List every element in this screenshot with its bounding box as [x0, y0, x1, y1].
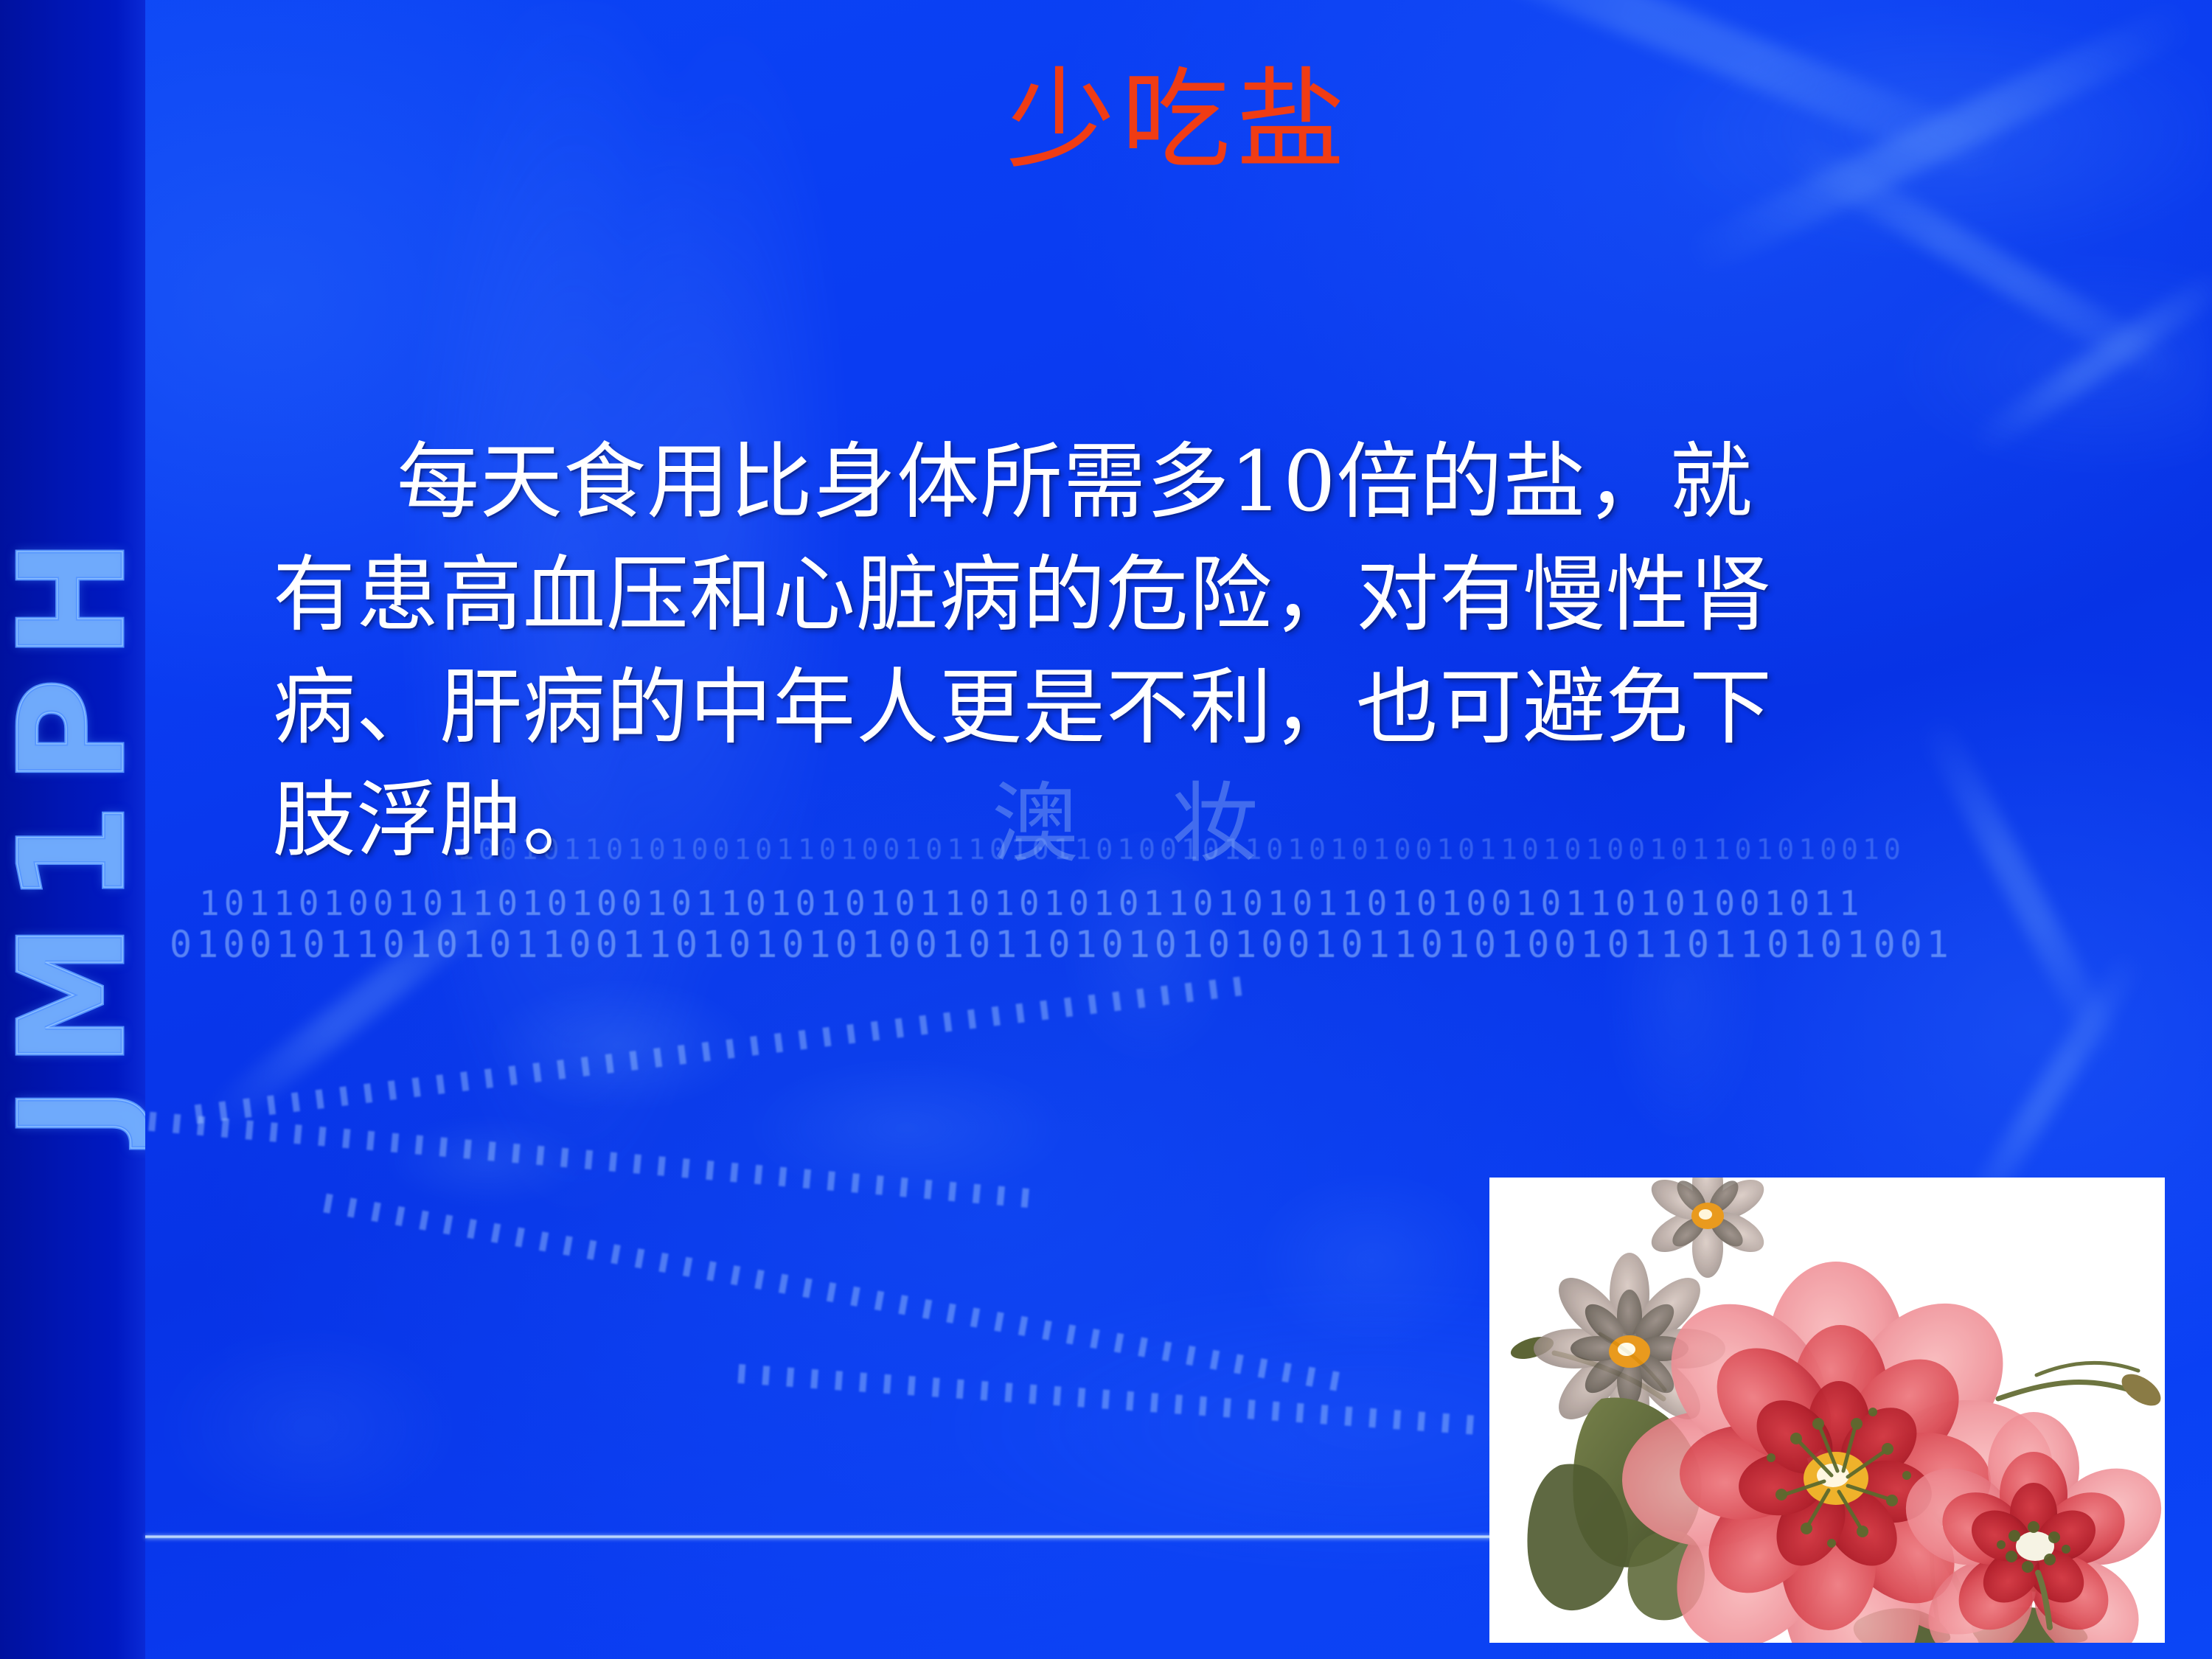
slide-canvas: 1011010010110101001011010101011010101011… — [0, 0, 2212, 1659]
sidebar-vertical-label-inner: JM1PH — [0, 519, 145, 1140]
body-line-3: 病、肝病的中年人更是不利，也可避免下 — [273, 652, 2116, 765]
flower-picture — [1489, 1178, 2165, 1643]
background-binary-row-1: 1011010010110101001011010101011010101011… — [199, 883, 2190, 923]
body-line-2: 有患高血压和心脏病的危险，对有慢性肾 — [273, 539, 2116, 652]
bottom-divider — [145, 1535, 1664, 1539]
background-binary-row-2: 0100101101010110011010101010010110101010… — [170, 923, 2190, 966]
left-sidebar: JM1PH JM1PH — [0, 0, 145, 1659]
body-line-1: 每天食用比身体所需多10倍的盐，就 — [273, 426, 2116, 539]
watercolor-flowers-icon — [1489, 1178, 2165, 1643]
watermark-text: 澳 妆 — [992, 780, 1291, 867]
page-title: 少吃盐 — [145, 58, 2212, 184]
